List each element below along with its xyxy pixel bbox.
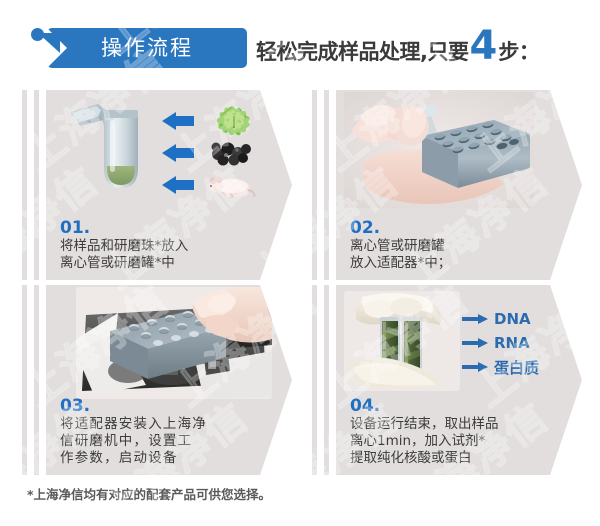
- watermark-text: 上海净信: [160, 504, 328, 526]
- step-card-01: 01. 将样品和研磨珠*放入 离心管或研磨罐*中: [22, 90, 292, 280]
- step-card-02: 02. 离心管或研磨罐 放入适配器*中；: [312, 90, 582, 280]
- output-row: DNA: [462, 307, 580, 331]
- step-02-photo: [336, 90, 582, 208]
- headline: 轻松完成样品处理,只要 4 步：: [256, 28, 539, 72]
- output-label: DNA: [494, 310, 531, 328]
- step-04-outputs: DNA RNA 蛋白质: [462, 307, 580, 379]
- step-card-body: 01. 将样品和研磨珠*放入 离心管或研磨罐*中: [46, 90, 292, 280]
- step-card-body: DNA RNA 蛋白质 04. 设备运行结束，取出样品: [336, 285, 582, 475]
- headline-step-count: 4: [469, 28, 497, 64]
- accent-bar: [324, 90, 329, 280]
- header: 操作流程 轻松完成样品处理,只要 4 步：: [0, 0, 600, 86]
- output-row: RNA: [462, 331, 580, 355]
- watermark-text: 上海净信: [460, 504, 600, 526]
- step-line: 信研磨机中，设置工: [60, 433, 280, 450]
- output-row: 蛋白质: [462, 355, 580, 379]
- arrow-right-icon: [462, 338, 488, 348]
- step-card-03: 03. 将适配器安装入上海净 信研磨机中，设置工 作参数，启动设备: [22, 285, 292, 475]
- step-line: 离心管或研磨罐: [350, 238, 570, 255]
- step-number: 03.: [60, 396, 280, 416]
- step-card-04: DNA RNA 蛋白质 04. 设备运行结束，取出样品: [312, 285, 582, 475]
- accent-bar: [324, 285, 329, 475]
- arrow-right-icon: [462, 362, 488, 372]
- headline-prefix: 轻松完成样品处理,只要: [256, 36, 468, 66]
- accent-bar: [34, 90, 39, 280]
- accent-bar: [34, 285, 39, 475]
- step-line: 将样品和研磨珠*放入: [60, 238, 280, 255]
- accent-bar: [312, 90, 317, 280]
- banner-title: 操作流程: [47, 28, 247, 68]
- step-03-text: 03. 将适配器安装入上海净 信研磨机中，设置工 作参数，启动设备: [60, 396, 280, 467]
- arrow-right-icon: [462, 314, 488, 324]
- accent-bar: [22, 285, 27, 475]
- accent-bar: [312, 285, 317, 475]
- footer-note: *上海净信均有对应的配套产品可供您选择。: [27, 484, 271, 503]
- infographic-page: 操作流程 轻松完成样品处理,只要 4 步：: [0, 0, 600, 526]
- step-number: 02.: [350, 218, 570, 238]
- watermark-text: 上海净信: [10, 504, 178, 526]
- step-line: 将适配器安装入上海净: [60, 416, 280, 433]
- step-number: 01.: [60, 218, 280, 238]
- accent-bar: [22, 90, 27, 280]
- headline-suffix: 步：: [498, 36, 539, 66]
- output-label: 蛋白质: [494, 357, 539, 378]
- step-number: 04.: [350, 396, 570, 416]
- step-03-photo: [46, 285, 292, 403]
- step-01-illustration: [46, 90, 292, 208]
- output-label: RNA: [494, 334, 530, 352]
- plant-leaf-icon: [217, 106, 250, 135]
- step-02-text: 02. 离心管或研磨罐 放入适配器*中；: [350, 218, 570, 272]
- step-line: 作参数，启动设备: [60, 450, 280, 467]
- step-line: 放入适配器*中；: [350, 255, 570, 272]
- step-line: 离心1min，加入试剂*: [350, 433, 570, 450]
- step-01-text: 01. 将样品和研磨珠*放入 离心管或研磨罐*中: [60, 218, 280, 272]
- step-04-text: 04. 设备运行结束，取出样品 离心1min，加入试剂* 提取纯化核酸或蛋白: [350, 396, 570, 467]
- step-card-body: 03. 将适配器安装入上海净 信研磨机中，设置工 作参数，启动设备: [46, 285, 292, 475]
- grinding-beads-icon: [212, 143, 252, 166]
- step-card-body: 02. 离心管或研磨罐 放入适配器*中；: [336, 90, 582, 280]
- mouse-icon: [209, 177, 254, 197]
- step-line: 离心管或研磨罐*中: [60, 255, 280, 272]
- step-line: 提取纯化核酸或蛋白: [350, 450, 570, 467]
- step-line: 设备运行结束，取出样品: [350, 416, 570, 433]
- watermark-text: 上海净信: [310, 504, 478, 526]
- watermark-text: 上海净信: [0, 504, 28, 526]
